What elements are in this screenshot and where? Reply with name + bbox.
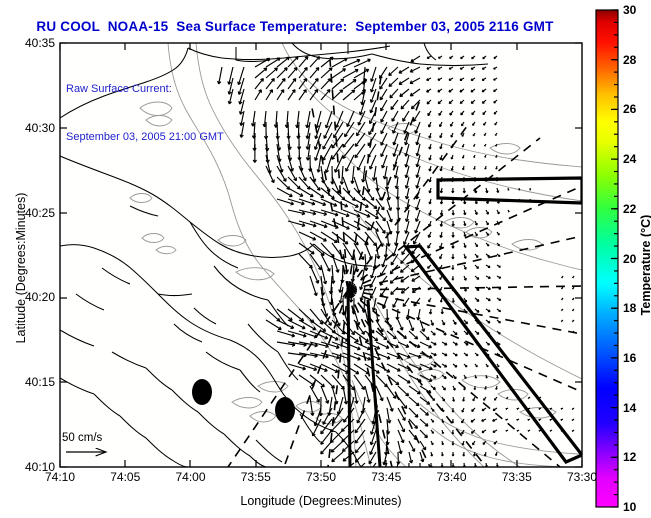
y-axis-label: Latitude (Degrees:Minutes) — [14, 158, 28, 378]
x-tick-label: 74:00 — [175, 470, 205, 484]
colorbar-tick-label: 16 — [623, 351, 636, 365]
y-tick-label: 40:20 — [5, 290, 55, 304]
x-tick-label: 73:40 — [436, 470, 466, 484]
y-tick-label: 40:10 — [5, 460, 55, 474]
colorbar-tick-label: 20 — [623, 252, 636, 266]
station-marker-west — [192, 379, 212, 405]
x-tick-label: 73:55 — [241, 470, 271, 484]
x-axis-label: Longitude (Degrees:Minutes) — [60, 494, 582, 508]
annotation-line-2: September 03, 2005 21:00 GMT — [66, 129, 224, 145]
colorbar-tick-label: 12 — [623, 450, 636, 464]
x-tick-label: 74:05 — [110, 470, 140, 484]
scale-legend-label: 50 cm/s — [62, 432, 102, 444]
station-marker-east — [275, 397, 295, 423]
x-tick-label: 73:30 — [567, 470, 597, 484]
x-tick-label: 73:45 — [371, 470, 401, 484]
colorbar-label: Temperature (°C) — [639, 185, 651, 345]
colorbar-tick-label: 18 — [623, 301, 636, 315]
colorbar-tick-label: 14 — [623, 401, 636, 415]
current-annotation: Raw Surface Current: September 03, 2005 … — [66, 49, 224, 177]
x-tick-label: 73:35 — [502, 470, 532, 484]
y-tick-label: 40:15 — [5, 375, 55, 389]
current-vector — [519, 188, 520, 190]
figure-title: RU COOL NOAA-15 Sea Surface Temperature:… — [0, 19, 590, 34]
colorbar-tick-label: 26 — [623, 102, 636, 116]
current-vector — [530, 188, 531, 190]
y-tick-label: 40:35 — [5, 36, 55, 50]
colorbar-tick-label: 22 — [623, 202, 636, 216]
x-tick-label: 73:50 — [306, 470, 336, 484]
annotation-line-1: Raw Surface Current: — [66, 81, 224, 97]
sst-current-figure: RU COOL NOAA-15 Sea Surface Temperature:… — [0, 0, 651, 518]
colorbar-tick-label: 10 — [623, 500, 636, 514]
colorbar-tick-label: 24 — [623, 152, 636, 166]
colorbar-tick-label: 28 — [623, 53, 636, 67]
y-tick-label: 40:25 — [5, 206, 55, 220]
colorbar-tick-label: 30 — [623, 3, 636, 17]
y-tick-label: 40:30 — [5, 121, 55, 135]
